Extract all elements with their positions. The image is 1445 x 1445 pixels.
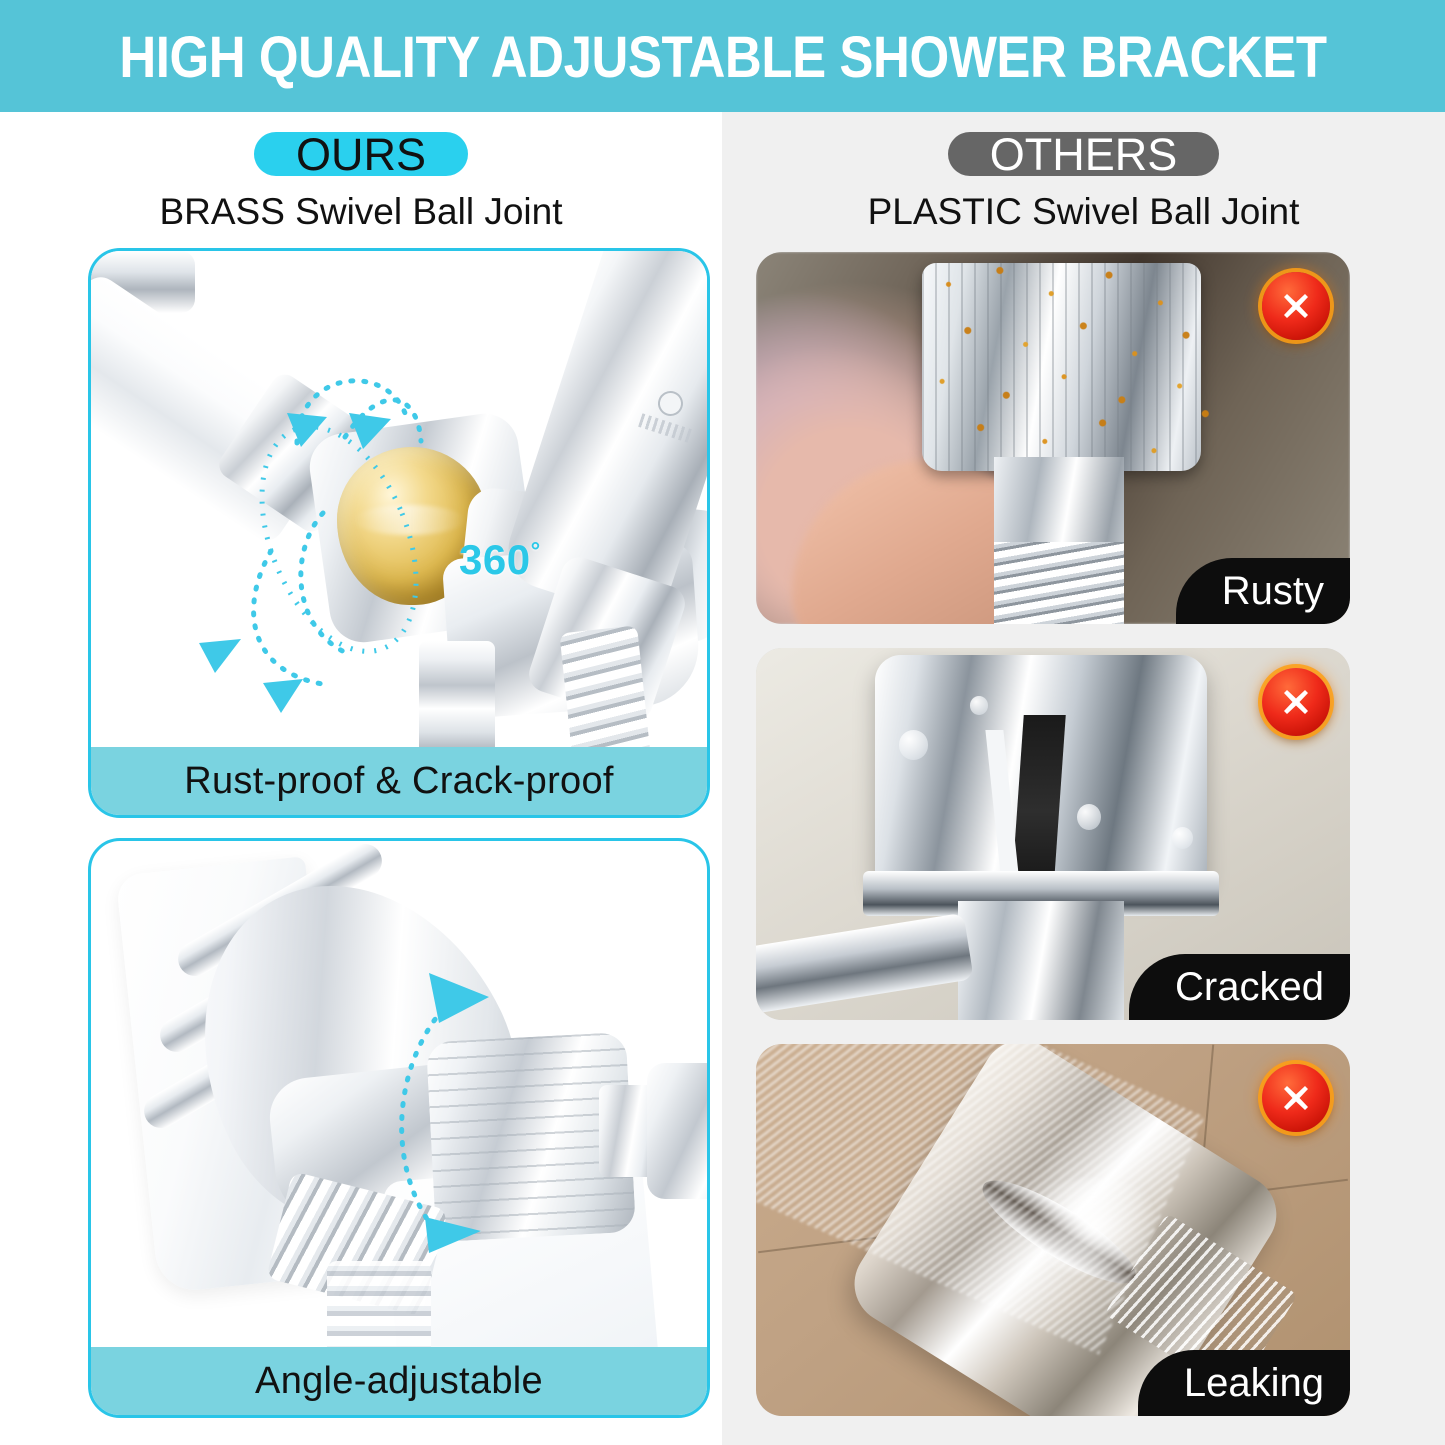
connector-nut — [647, 1063, 707, 1199]
others-photo-leaking: Leaking — [756, 1044, 1350, 1416]
page-title: HIGH QUALITY ADJUSTABLE SHOWER BRACKET — [119, 25, 1326, 87]
threaded-connector — [994, 542, 1125, 624]
others-badge: OTHERS — [948, 132, 1220, 176]
degree-symbol: ° — [531, 538, 541, 565]
water-droplet — [970, 696, 988, 715]
water-droplet — [899, 730, 929, 760]
angle-adjustable-illustration — [91, 841, 707, 1415]
water-leak-burst — [1017, 1178, 1171, 1275]
rotation-degree-value: 360 — [459, 536, 531, 583]
others-photo-rusty: Rusty — [756, 252, 1350, 624]
brass-ball-highlight — [353, 505, 465, 535]
x-mark-icon — [1262, 272, 1330, 340]
ours-badge: OURS — [254, 132, 468, 176]
x-mark-icon — [1262, 1064, 1330, 1132]
header-banner: HIGH QUALITY ADJUSTABLE SHOWER BRACKET — [0, 0, 1445, 112]
photo-label-cracked: Cracked — [1129, 954, 1350, 1020]
ours-panel-rust-proof: 360° Rust-proof & Crack-proof — [88, 248, 710, 818]
x-mark-icon — [1262, 668, 1330, 736]
water-droplet — [1172, 827, 1193, 849]
others-subtitle: PLASTIC Swivel Ball Joint — [868, 193, 1300, 230]
ours-panel-2-caption: Angle-adjustable — [91, 1347, 707, 1415]
rust-spots — [910, 252, 1231, 483]
ours-subtitle: BRASS Swivel Ball Joint — [159, 193, 562, 230]
rotation-degree-label: 360° — [459, 536, 541, 584]
water-droplet — [1077, 804, 1101, 830]
others-column-heading: OTHERS PLASTIC Swivel Ball Joint — [722, 132, 1445, 230]
ours-panel-1-caption: Rust-proof & Crack-proof — [91, 747, 707, 815]
ours-column-heading: OURS BRASS Swivel Ball Joint — [0, 132, 722, 230]
others-photo-cracked: Cracked — [756, 648, 1350, 1020]
photo-label-rusty: Rusty — [1176, 558, 1350, 624]
shower-stem — [958, 901, 1124, 1020]
infographic-canvas: HIGH QUALITY ADJUSTABLE SHOWER BRACKET O… — [0, 0, 1445, 1445]
brass-ball-joint-illustration: 360° — [91, 251, 707, 815]
ours-panel-angle-adjustable: Angle-adjustable — [88, 838, 710, 1418]
photo-label-leaking: Leaking — [1138, 1350, 1350, 1416]
